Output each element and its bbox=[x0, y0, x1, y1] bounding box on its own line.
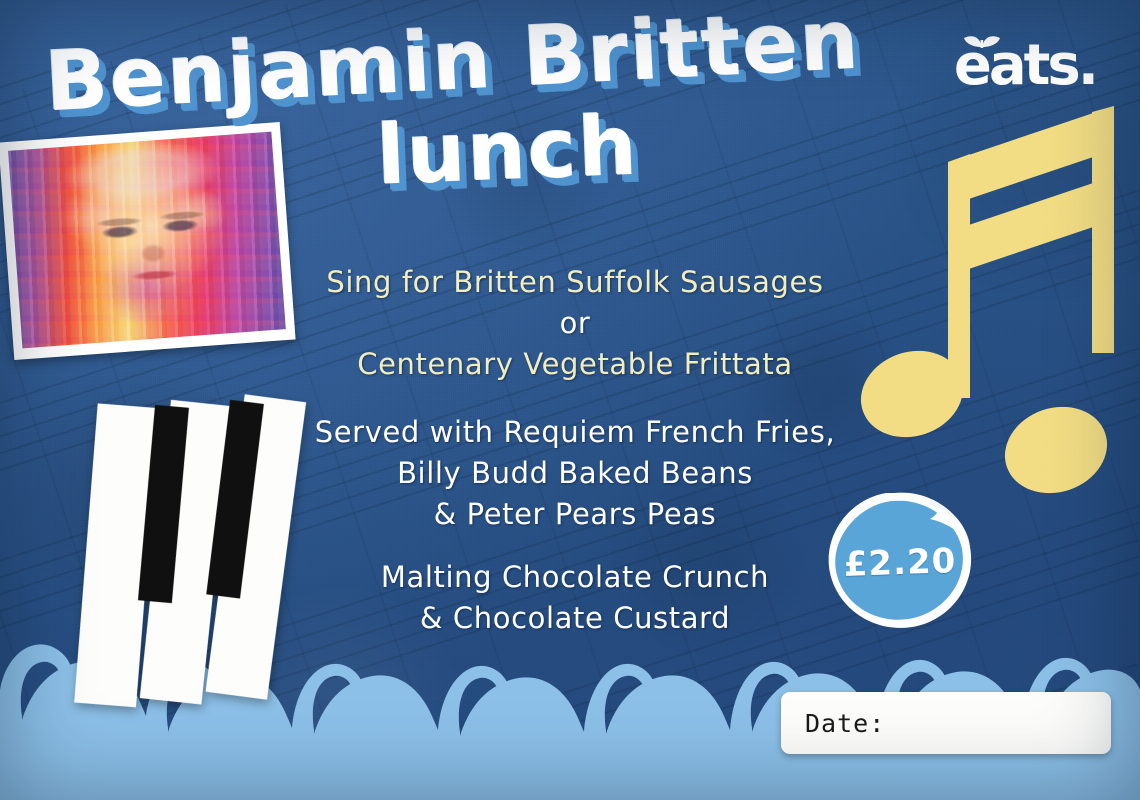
date-dotted-line[interactable] bbox=[895, 720, 1095, 740]
menu-side-1: Served with Requiem French Fries, bbox=[245, 412, 905, 453]
menu-main-or: or bbox=[245, 303, 905, 344]
eats-logo: eats. bbox=[954, 38, 1096, 94]
price-value: £2.20 bbox=[817, 540, 982, 586]
menu-side-3: & Peter Pears Peas bbox=[245, 494, 905, 535]
menu-main-1: Sing for Britten Suffolk Sausages bbox=[245, 262, 905, 303]
date-field[interactable]: Date: bbox=[781, 692, 1111, 754]
menu-dessert-2: & Chocolate Custard bbox=[245, 598, 905, 639]
date-label: Date: bbox=[805, 709, 885, 738]
poster-canvas: Benjamin Britten lunch eats. Sing for Br… bbox=[0, 0, 1140, 800]
menu-spacer bbox=[245, 386, 905, 412]
menu-text-block: Sing for Britten Suffolk Sausages or Cen… bbox=[245, 262, 905, 639]
menu-main-2: Centenary Vegetable Frittata bbox=[245, 344, 905, 385]
menu-spacer bbox=[245, 535, 905, 557]
leaf-icon bbox=[962, 31, 1002, 49]
price-sticker: £2.20 bbox=[818, 487, 982, 633]
menu-side-2: Billy Budd Baked Beans bbox=[245, 453, 905, 494]
poster-title: Benjamin Britten lunch bbox=[0, 22, 900, 195]
menu-dessert-1: Malting Chocolate Crunch bbox=[245, 557, 905, 598]
